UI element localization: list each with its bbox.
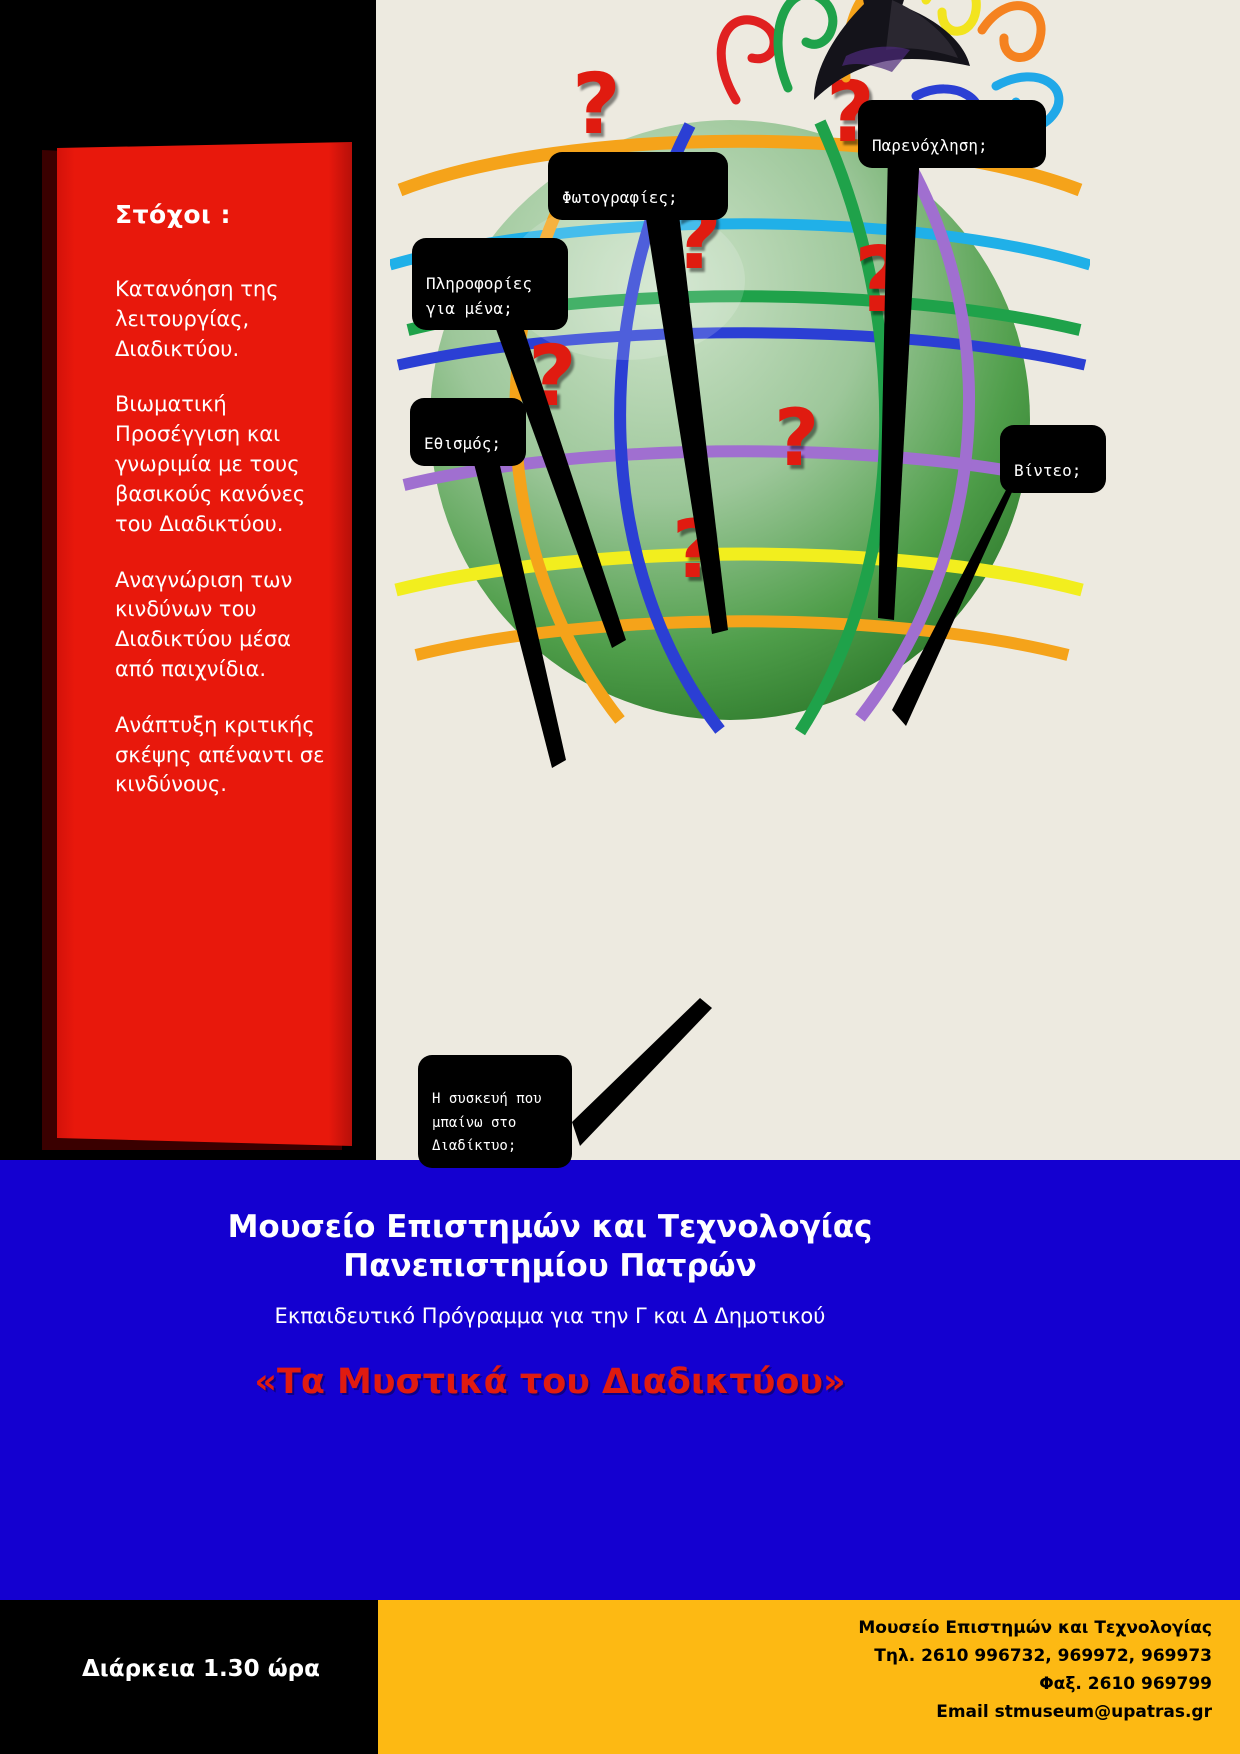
contact-fax: Φαξ. 2610 969799: [858, 1670, 1212, 1698]
program-title: «Τα Μυστικά του Διαδικτύου»: [254, 1362, 845, 1402]
bubble-text: Εθισμός;: [424, 434, 501, 453]
bubble-text: Η συσκευή που μπαίνω στο Διαδίκτυο;: [432, 1091, 542, 1155]
contact-org: Μουσείο Επιστημών και Τεχνολογίας: [858, 1614, 1212, 1642]
poster-canvas: ? ? ? ? ? ? ? Εθισμός; Πληροφορίες για μ…: [0, 0, 1240, 1754]
contact-email[interactable]: Email stmuseum@upatras.gr: [858, 1698, 1212, 1726]
bubble-text: Φωτογραφίες;: [562, 188, 678, 207]
bubble-fotografies[interactable]: Φωτογραφίες;: [548, 152, 728, 220]
contact-box: Μουσείο Επιστημών και Τεχνολογίας Τηλ. 2…: [378, 1600, 1240, 1754]
bubble-parenochlisi[interactable]: Παρενόχληση;: [858, 100, 1046, 168]
bubble-text: Πληροφορίες για μένα;: [426, 274, 532, 318]
contact-phone: Τηλ. 2610 996732, 969972, 969973: [858, 1642, 1212, 1670]
bubble-siskevi[interactable]: Η συσκευή που μπαίνω στο Διαδίκτυο;: [418, 1055, 572, 1168]
bubble-text: Βίντεο;: [1014, 461, 1081, 480]
bubble-vinteo[interactable]: Βίντεο;: [1000, 425, 1106, 493]
bubble-plirofories[interactable]: Πληροφορίες για μένα;: [412, 238, 568, 330]
museum-name-line2: Πανεπιστημίου Πατρών: [343, 1247, 756, 1286]
museum-name-line1: Μουσείο Επιστημών και Τεχνολογίας: [228, 1208, 873, 1247]
program-subtitle: Εκπαιδευτικό Πρόγραμμα για την Γ και Δ Δ…: [275, 1304, 826, 1328]
footer-blue-band: Μουσείο Επιστημών και Τεχνολογίας Πανεπι…: [0, 1160, 1240, 1600]
duration-label: Διάρκεια 1.30 ώρα: [82, 1656, 320, 1682]
bubble-text: Παρενόχληση;: [872, 136, 988, 155]
bubble-ethismos[interactable]: Εθισμός;: [410, 398, 526, 466]
